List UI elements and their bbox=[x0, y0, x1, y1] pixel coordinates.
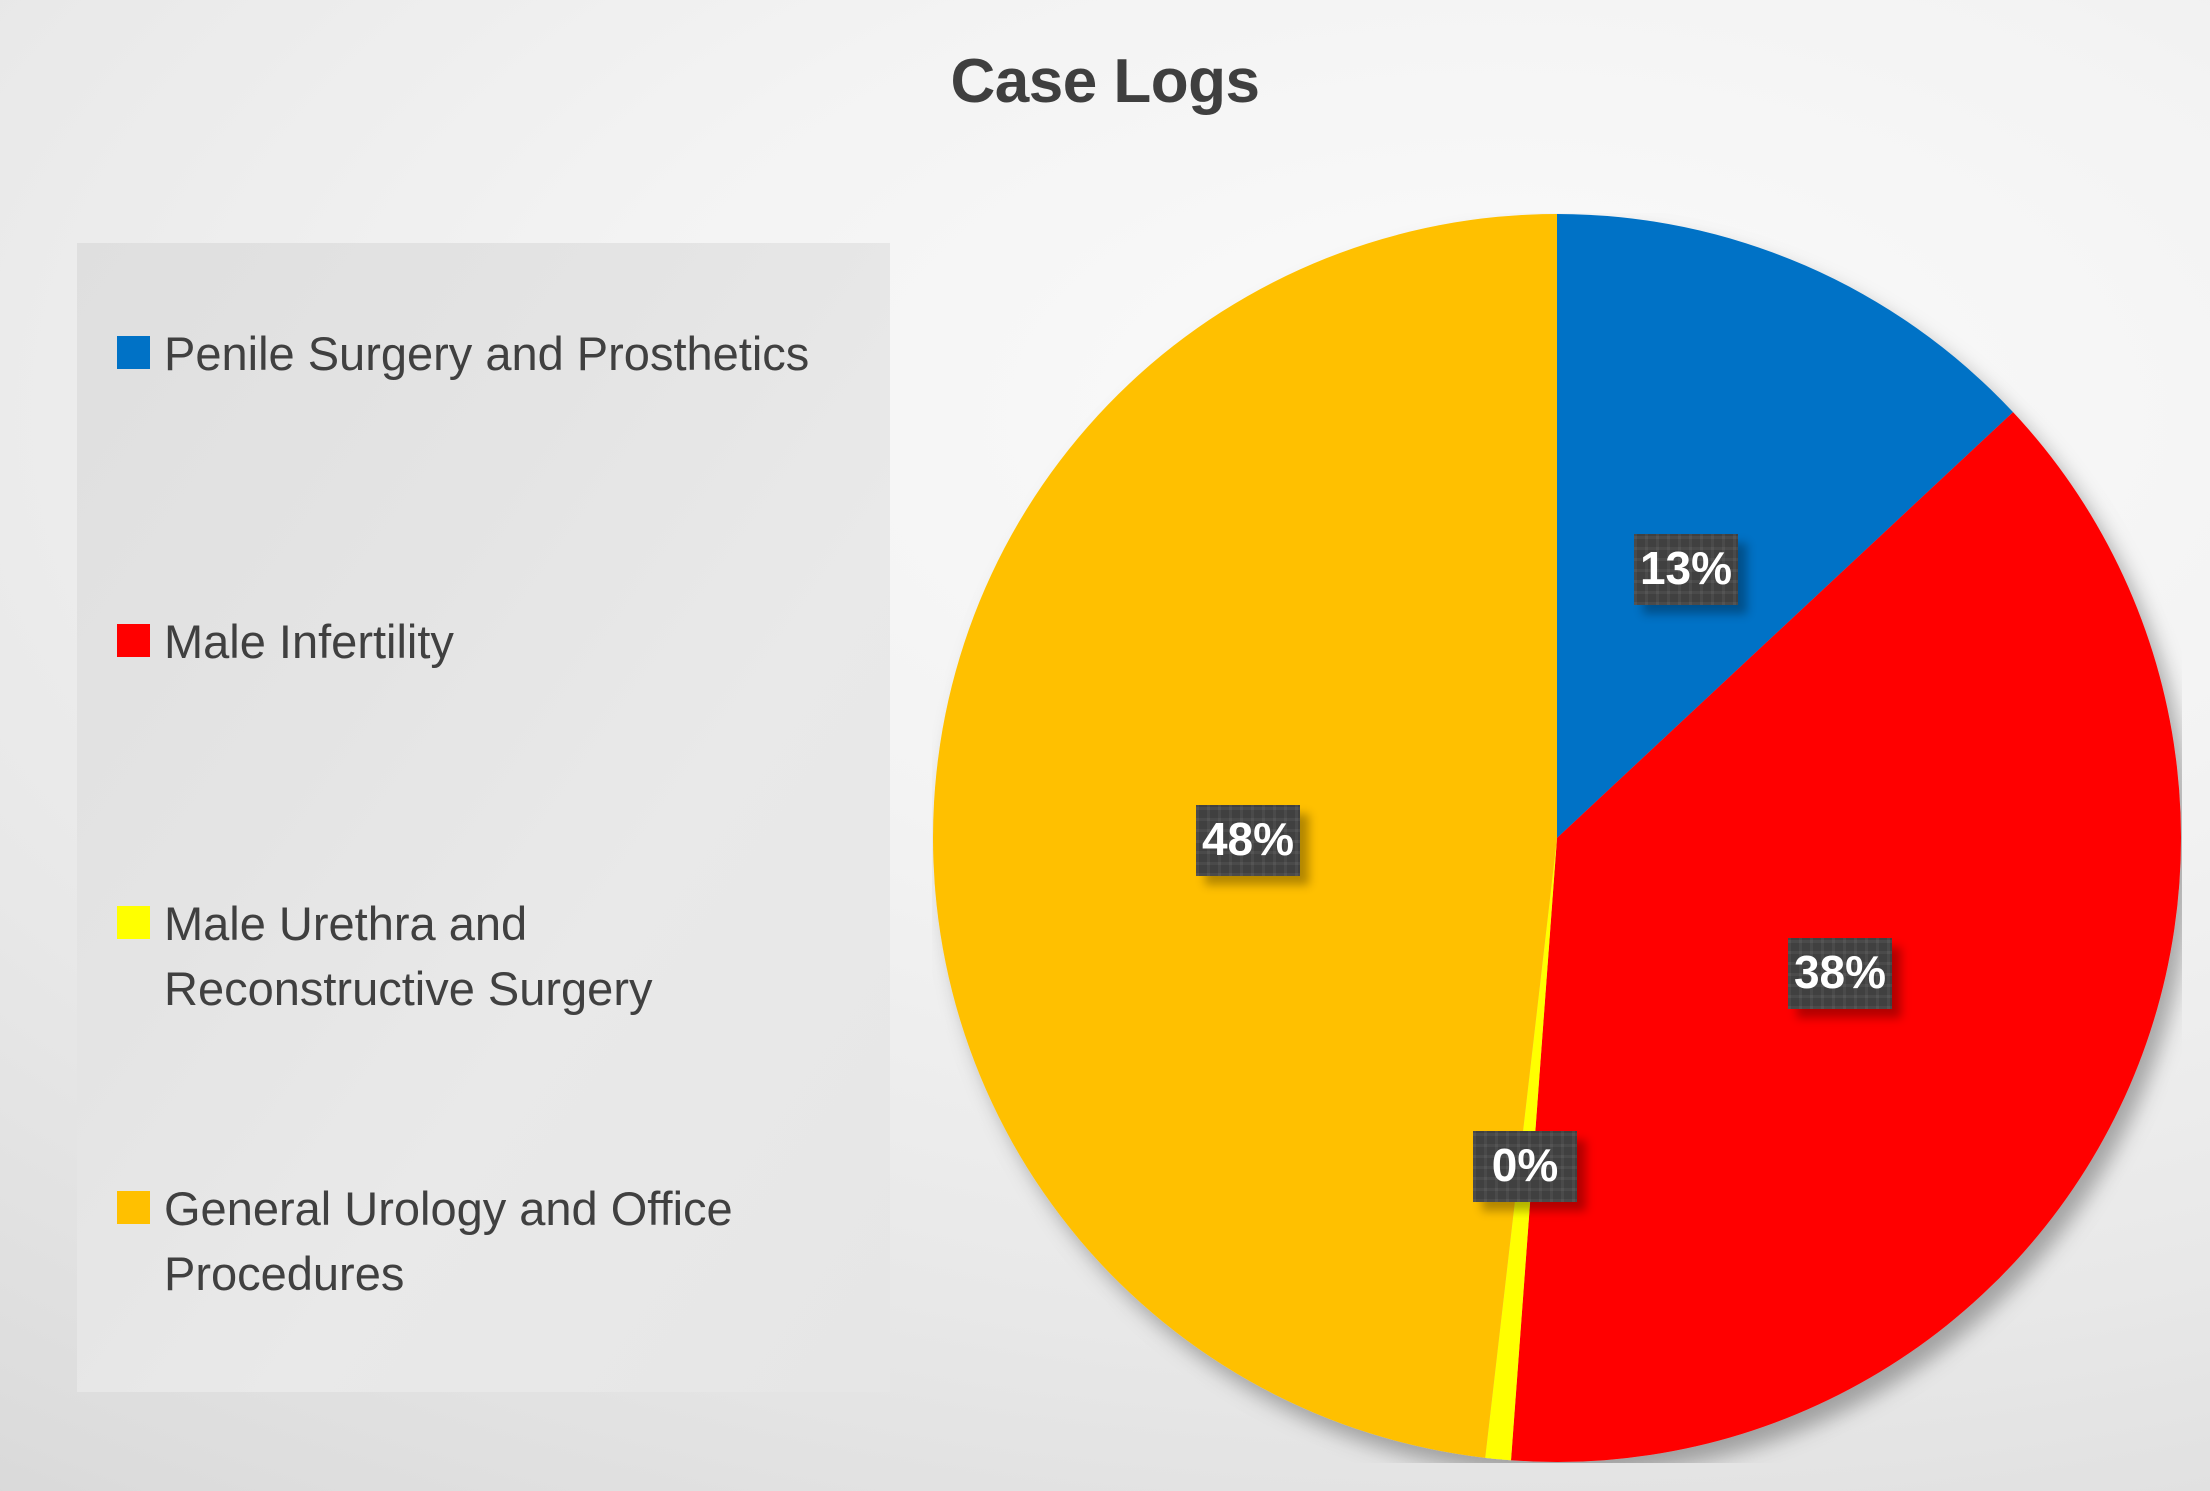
pie-data-label: 0% bbox=[1473, 1131, 1577, 1202]
legend-item-label: General Urology and Office Procedures bbox=[164, 1176, 733, 1306]
legend-item-label: Male Infertility bbox=[164, 609, 454, 674]
slide-canvas: Case Logs Penile Surgery and Prosthetics… bbox=[0, 0, 2210, 1491]
legend-item-penile-surgery-and-prosthetics[interactable]: Penile Surgery and Prosthetics bbox=[117, 321, 847, 386]
pie-slice-group bbox=[933, 214, 2181, 1462]
pie-chart-svg bbox=[932, 213, 2182, 1463]
legend-item-label: Penile Surgery and Prosthetics bbox=[164, 321, 809, 386]
legend-item-label: Male Urethra and Reconstructive Surgery bbox=[164, 891, 652, 1021]
legend-swatch-square-icon bbox=[117, 336, 150, 369]
pie-data-label: 38% bbox=[1788, 938, 1892, 1009]
chart-legend: Penile Surgery and Prosthetics Male Infe… bbox=[77, 243, 890, 1392]
legend-item-general-urology-and-office-procedures[interactable]: General Urology and Office Procedures bbox=[117, 1176, 847, 1306]
pie-data-label: 13% bbox=[1634, 534, 1738, 605]
legend-swatch-square-icon bbox=[117, 906, 150, 939]
legend-item-male-urethra-and-reconstructive-surgery[interactable]: Male Urethra and Reconstructive Surgery bbox=[117, 891, 847, 1021]
pie-data-label: 48% bbox=[1196, 805, 1300, 876]
legend-swatch-square-icon bbox=[117, 624, 150, 657]
pie-chart[interactable] bbox=[932, 213, 2182, 1463]
legend-swatch-square-icon bbox=[117, 1191, 150, 1224]
legend-item-male-infertility[interactable]: Male Infertility bbox=[117, 609, 847, 674]
page-title: Case Logs bbox=[0, 46, 2210, 117]
